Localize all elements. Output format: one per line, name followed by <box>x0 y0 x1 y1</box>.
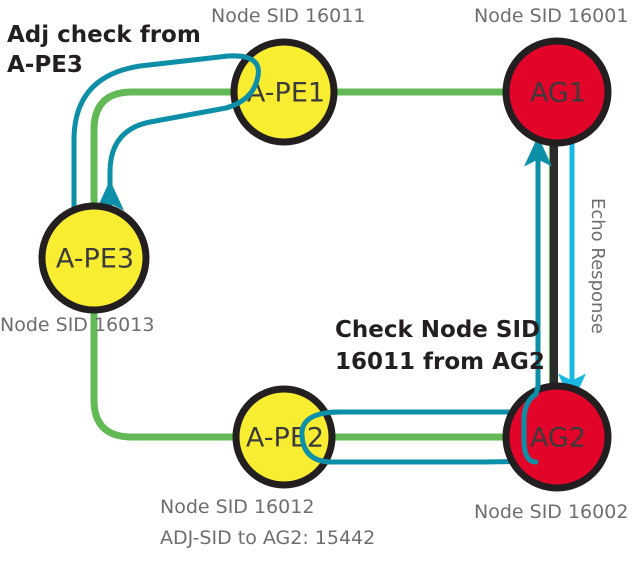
sid-label-ag1: Node SID 16001 <box>474 5 628 27</box>
node-ag1-label: AG1 <box>530 78 586 109</box>
annotation-check-node-sid-line1: Check Node SID <box>335 317 540 343</box>
node-a-pe3[interactable]: A-PE3 <box>42 206 146 310</box>
annotation-echo-response: Echo Response <box>587 198 608 334</box>
node-ag1[interactable]: AG1 <box>506 41 608 143</box>
node-a-pe2-label: A-PE2 <box>246 423 324 454</box>
sid-label-ag2: Node SID 16002 <box>474 501 628 523</box>
annotation-adj-check-line1: Adj check from <box>7 22 201 48</box>
adj-sid-label-a-pe2: ADJ-SID to AG2: 15442 <box>160 527 375 549</box>
node-ag2-label: AG2 <box>530 423 586 454</box>
node-ag2[interactable]: AG2 <box>506 386 608 488</box>
green-link-layer <box>94 92 592 437</box>
network-topology-diagram: A-PE1 AG1 A-PE3 A-PE2 AG2 <box>0 0 639 567</box>
annotation-check-node-sid-line2: 16011 from AG2 <box>335 349 545 375</box>
sid-label-a-pe1: Node SID 16011 <box>211 5 365 27</box>
node-a-pe3-label: A-PE3 <box>56 244 134 275</box>
sid-label-a-pe3: Node SID 16013 <box>0 314 154 336</box>
node-a-pe2[interactable]: A-PE2 <box>236 389 332 485</box>
topology-canvas: A-PE1 AG1 A-PE3 A-PE2 AG2 <box>0 0 639 567</box>
sid-label-a-pe2: Node SID 16012 <box>160 496 314 518</box>
annotation-adj-check-line2: A-PE3 <box>7 52 83 78</box>
